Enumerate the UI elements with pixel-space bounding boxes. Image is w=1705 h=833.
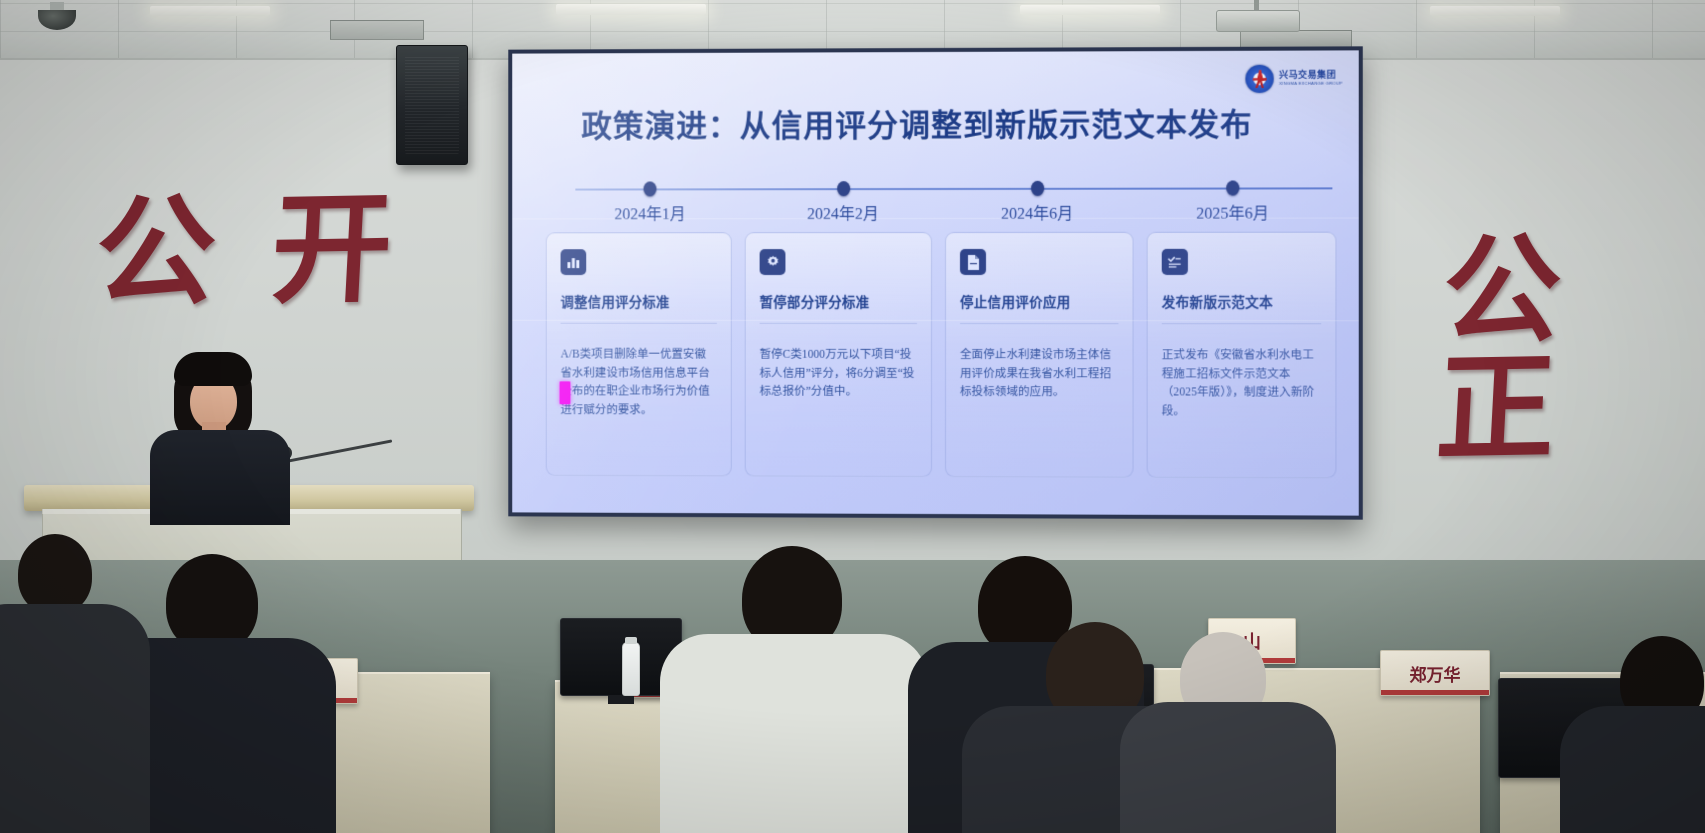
ceiling-light [1020,5,1160,15]
wall-speaker-icon [396,45,468,165]
timeline-date: 2024年1月 [614,200,685,224]
text-cursor [560,381,571,404]
timeline-line [575,187,1332,190]
slide: 兴马交易集团 XINGMA EXCHANGE GROUP 政策演进：从信用评分调… [512,50,1359,515]
card-body: 暂停C类1000万元以下项目“投标人信用”评分，将6分调至“投标总报价”分值中。 [760,346,917,402]
timeline-cards: 调整信用评分标准 A/B类项目删除单一优置安徽省水利建设市场信用信息平台公布的在… [546,232,1337,479]
timeline-card: 调整信用评分标准 A/B类项目删除单一优置安徽省水利建设市场信用信息平台公布的在… [546,232,732,476]
document-icon [960,249,986,275]
card-body: 全面停止水利建设市场主体信用评价成果在我省水利工程招标投标领域的应用。 [960,346,1118,402]
timeline-card: 暂停部分评分标准 暂停C类1000万元以下项目“投标人信用”评分，将6分调至“投… [745,232,932,477]
ceiling-light [1430,6,1560,16]
nameplate-text: 郑万华 [1410,661,1461,686]
circular-emblem-icon [1246,65,1274,93]
nameplate: 郑万华 [1380,650,1490,696]
timeline-dot [837,181,850,196]
audience-shoulders [1560,706,1705,833]
timeline-dot [1226,180,1239,195]
card-divider [960,323,1118,324]
timeline-date: 2025年6月 [1196,200,1269,224]
podium-microphone-icon [286,438,406,498]
card-heading: 发布新版示范文本 [1162,291,1322,311]
presenter [150,352,290,522]
bar-chart-icon [561,249,587,275]
timeline-card: 停止信用评价应用 全面停止水利建设市场主体信用评价成果在我省水利工程招标投标领域… [945,232,1134,478]
timeline-date: 2024年6月 [1001,200,1073,224]
card-divider [561,323,717,324]
card-heading: 暂停部分评分标准 [760,291,917,311]
timeline-dot [1031,181,1044,196]
brand-logo: 兴马交易集团 XINGMA EXCHANGE GROUP [1246,65,1343,93]
card-divider [760,323,917,324]
audience-head [18,534,92,614]
ceiling-light [556,4,706,15]
projection-screen: 兴马交易集团 XINGMA EXCHANGE GROUP 政策演进：从信用评分调… [512,50,1359,515]
card-heading: 停止信用评价应用 [960,291,1118,311]
timeline-date: 2024年2月 [807,200,879,224]
logo-name-cn: 兴马交易集团 [1279,71,1342,80]
audience-shoulders [660,634,928,833]
ceiling-light [150,6,270,16]
card-divider [1162,323,1322,324]
ceiling-projector-icon [1216,0,1298,30]
timeline-dot [644,181,657,196]
audience-shoulders [1120,702,1336,833]
audience-shoulders [0,604,150,833]
conference-room-scene: 公开 公平 公正 兴马交易集团 XINGMA EXCHANGE GROUP 政策… [0,0,1705,833]
ceiling-camera-icon [34,2,80,28]
slide-title: 政策演进：从信用评分调整到新版示范文本发布 [581,99,1281,146]
ceiling-vent [1240,30,1352,48]
wall-calligraphy-right: 公正 [1434,230,1705,471]
checklist-icon [1162,249,1188,275]
projection-screen-frame: 兴马交易集团 XINGMA EXCHANGE GROUP 政策演进：从信用评分调… [508,46,1363,519]
card-heading: 调整信用评分标准 [561,291,717,311]
logo-name-en: XINGMA EXCHANGE GROUP [1279,82,1342,86]
audience-area: 亮 史 赖 山 郑万华 [0,560,1705,833]
water-bottle [622,642,640,696]
card-body: 正式发布《安徽省水利水电工程施工招标文件示范文本（2025年版）》，制度进入新阶… [1162,346,1322,421]
timeline-card: 发布新版示范文本 正式发布《安徽省水利水电工程施工招标文件示范文本（2025年版… [1147,232,1337,479]
timeline-axis [556,179,1333,196]
card-body: A/B类项目删除单一优置安徽省水利建设市场信用信息平台公布的在职企业市场行为价值… [561,346,717,420]
ceiling-vent [330,20,424,40]
gear-icon [760,249,786,275]
